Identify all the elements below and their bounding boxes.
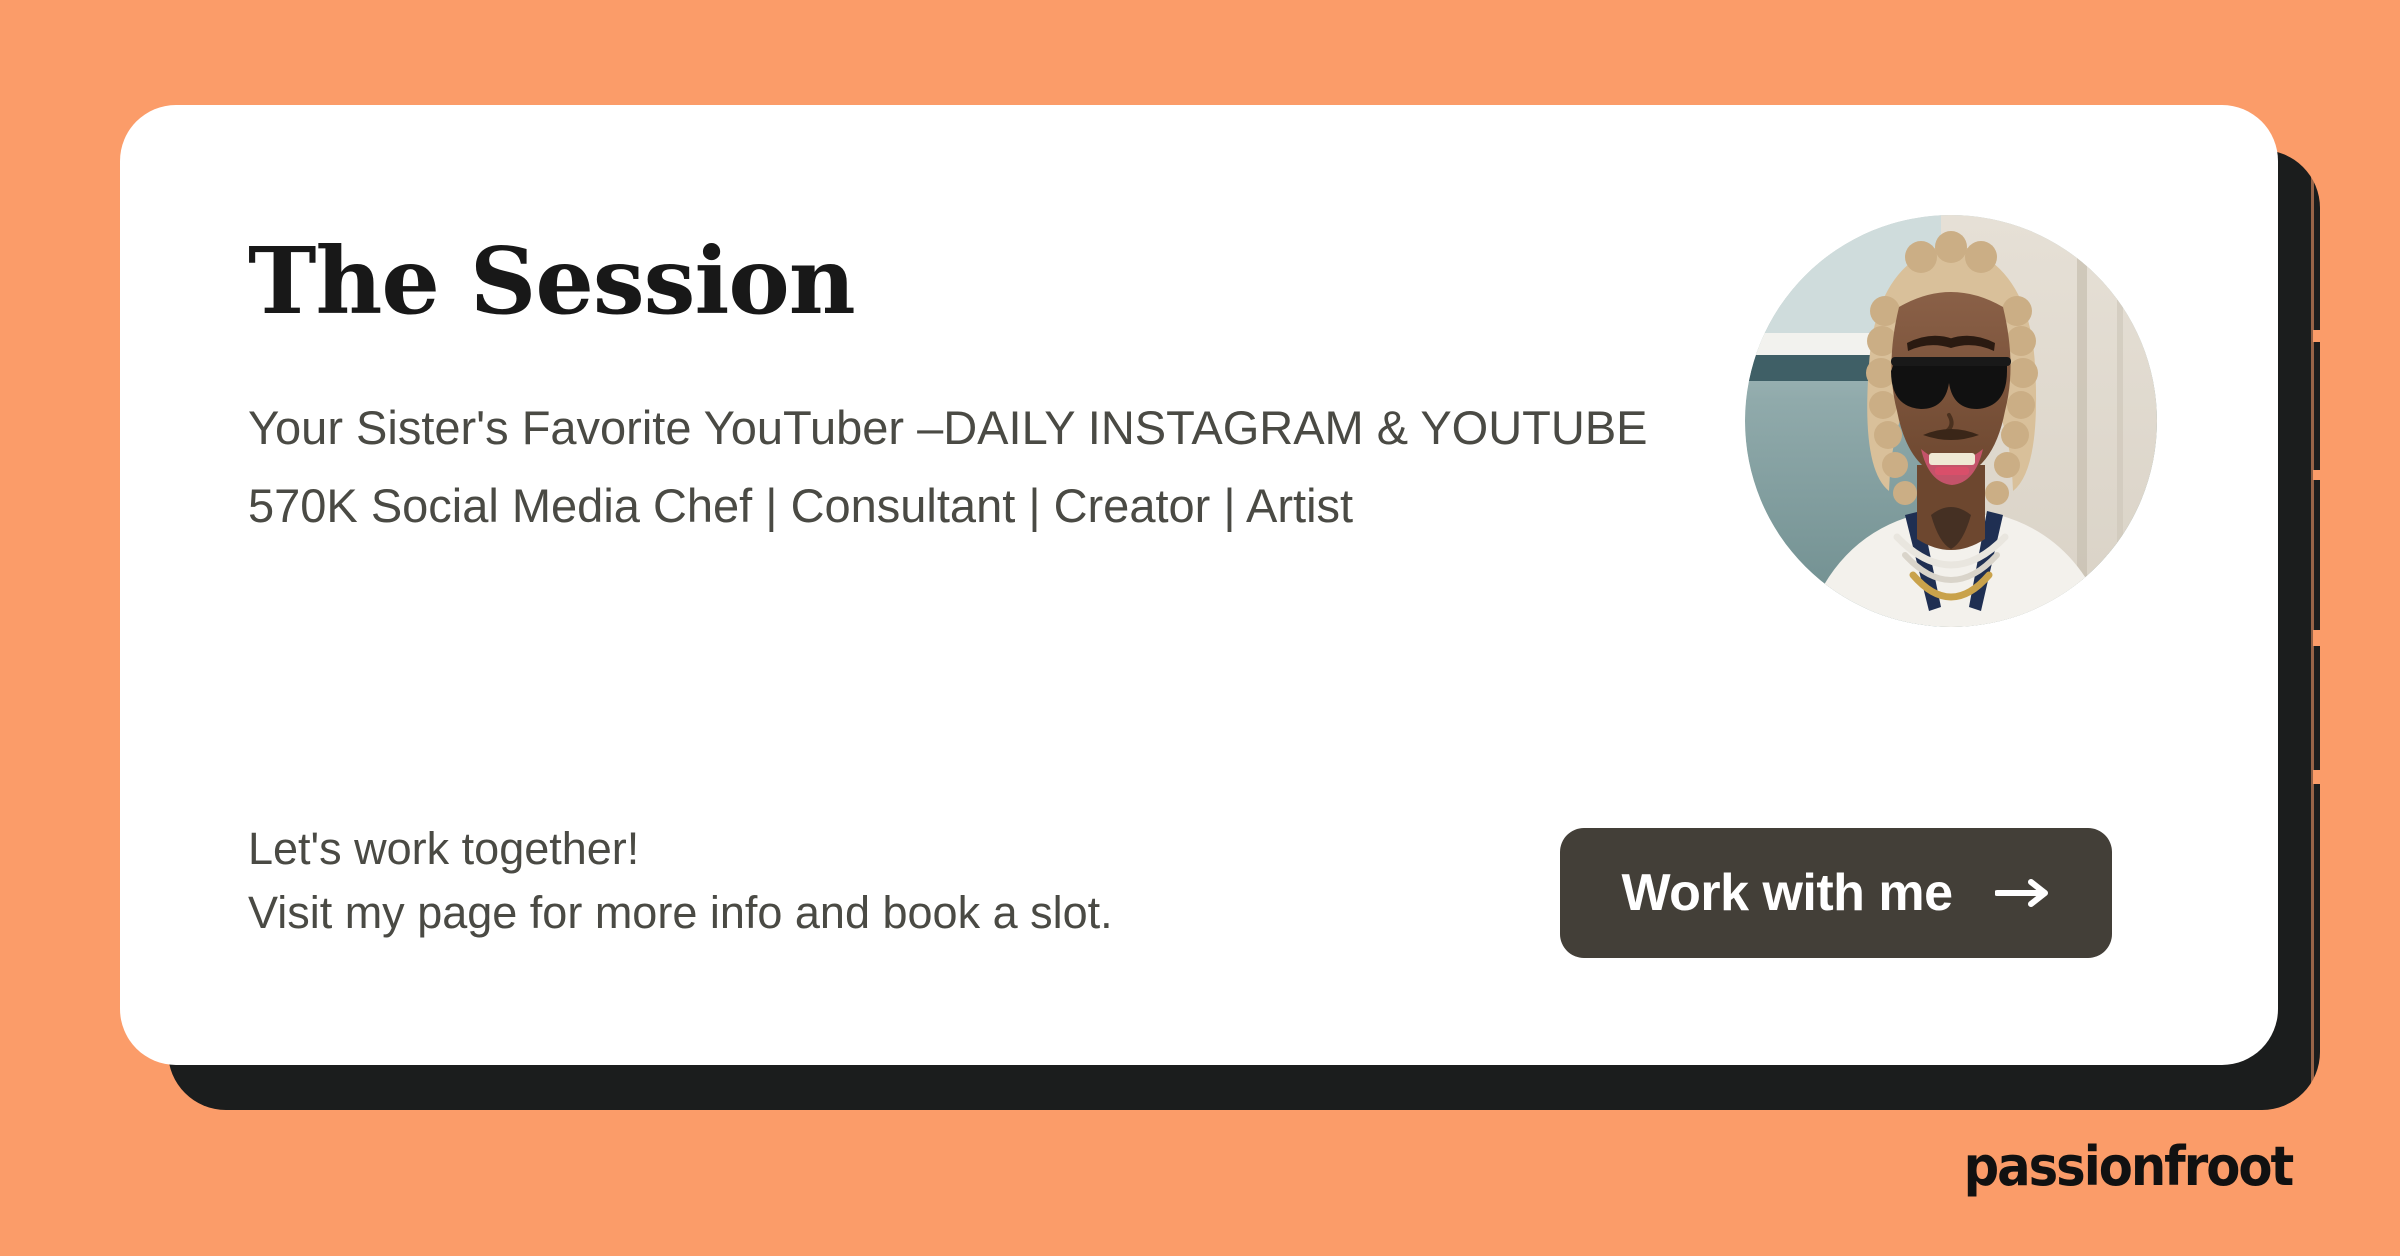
work-with-me-button[interactable]: Work with me xyxy=(1560,828,2112,958)
profile-bio: Your Sister's Favorite YouTuber –DAILY I… xyxy=(248,389,1678,545)
cta-line-1: Let's work together! xyxy=(248,823,639,874)
page-canvas: The Session Your Sister's Favorite YouTu… xyxy=(0,0,2400,1256)
passionfroot-logo: passionfroot xyxy=(1963,1135,2292,1198)
avatar xyxy=(1745,215,2157,627)
page-title: The Session xyxy=(248,235,855,327)
card-content: The Session Your Sister's Favorite YouTu… xyxy=(120,105,2278,1065)
arrow-right-icon xyxy=(1995,878,2051,908)
work-with-me-label: Work with me xyxy=(1621,863,1952,923)
cta-text: Let's work together! Visit my page for m… xyxy=(248,817,1113,945)
creator-card: The Session Your Sister's Favorite YouTu… xyxy=(120,105,2278,1065)
cta-line-2: Visit my page for more info and book a s… xyxy=(248,887,1113,938)
